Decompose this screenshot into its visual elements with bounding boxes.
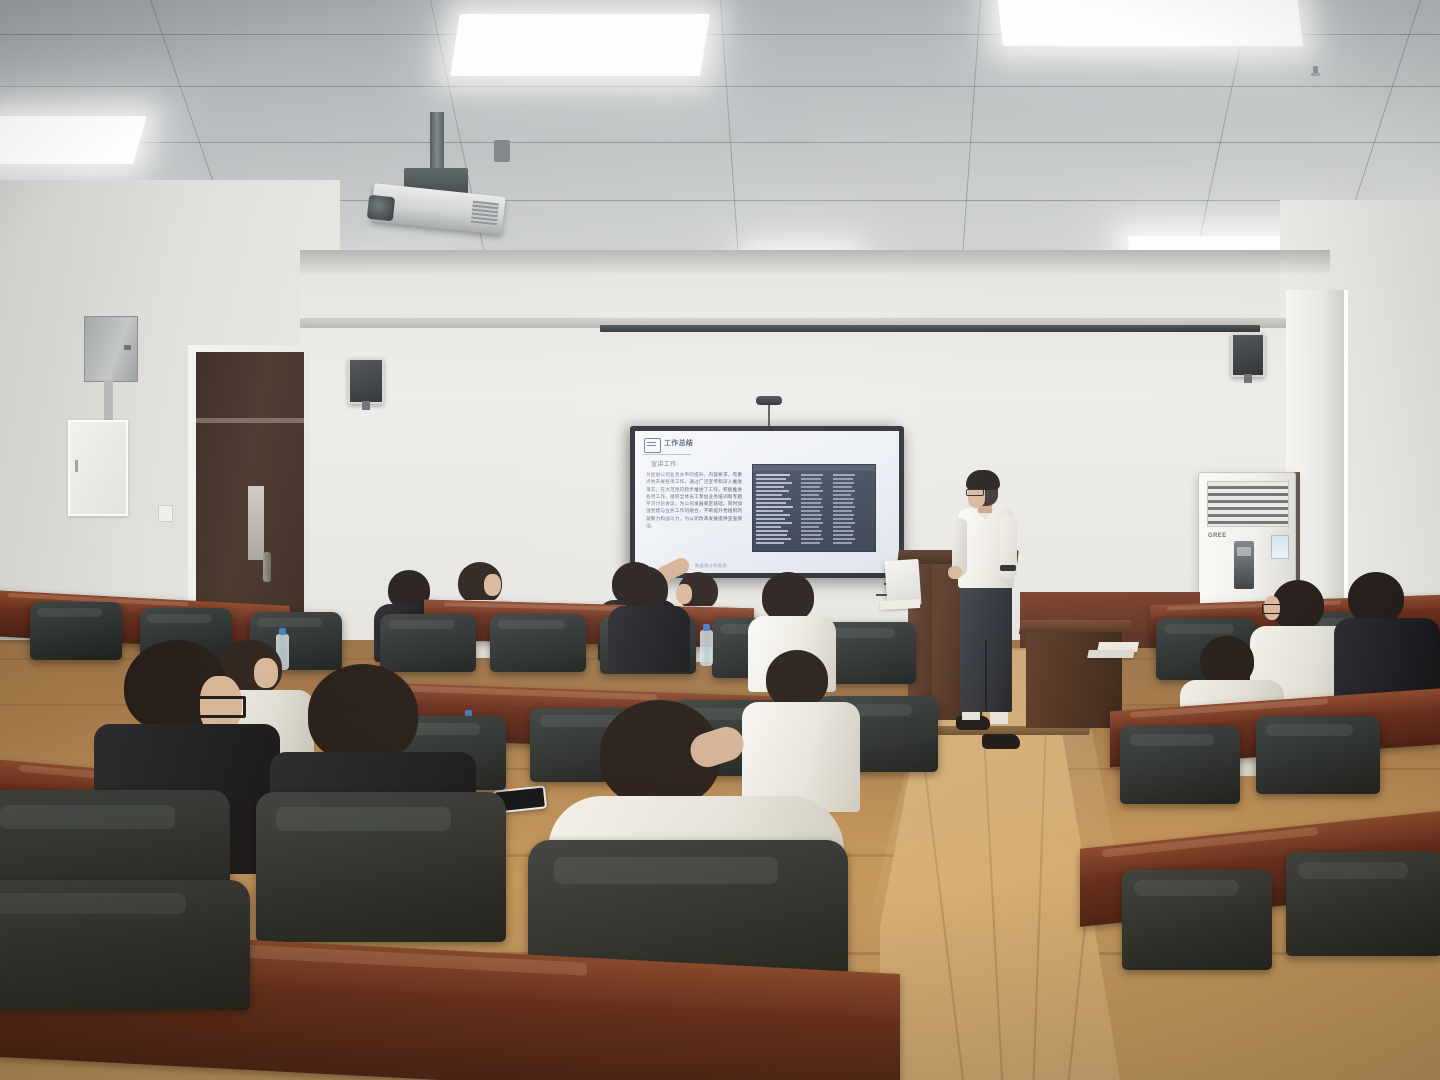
slide-title-rule	[643, 454, 691, 455]
presenter-hair	[966, 470, 1000, 490]
slide-data-table	[752, 464, 876, 552]
chair[interactable]	[0, 880, 250, 1010]
stacked-papers	[1087, 650, 1135, 658]
slide-title: 工作总结	[664, 438, 693, 448]
conference-camera-icon	[756, 396, 782, 405]
cable-rail	[600, 325, 1260, 332]
wall-speaker-right	[1231, 333, 1265, 377]
chair[interactable]	[1286, 852, 1440, 956]
wall-mounted-display[interactable]: 工作总结 宣讲工作 为促进公司业务水平的提升，内容要求，有重点地开展各项工作，通…	[630, 426, 904, 578]
chair[interactable]	[1120, 726, 1240, 804]
door-reflection	[196, 418, 304, 423]
wall-control-box	[84, 316, 138, 382]
wall-electrical-panel[interactable]	[68, 420, 128, 516]
chair[interactable]	[30, 602, 122, 660]
pillar-edge-highlight	[1344, 290, 1348, 630]
conduit-pipe	[104, 380, 113, 422]
led-panel-1	[450, 14, 710, 76]
slide-body-text: 为促进公司业务水平的提升，内容要求，有重点地开展各项工作，通过广泛宣传和深入推进…	[646, 471, 742, 529]
projector-lens-icon	[367, 195, 395, 222]
slide-section-label: 宣讲工作	[651, 459, 677, 468]
presenter-leg-seam	[985, 640, 987, 712]
ac-display-panel[interactable]	[1234, 541, 1254, 589]
projector-mount-pole	[430, 112, 444, 174]
eyeglasses-icon	[194, 696, 246, 718]
presenter-wristwatch	[1000, 565, 1016, 571]
chair[interactable]	[256, 792, 506, 942]
door-handle[interactable]	[263, 552, 271, 582]
chair[interactable]	[1256, 716, 1380, 794]
water-bottle	[700, 630, 713, 666]
slide-footer-caption: 数据统计明细表	[695, 563, 727, 569]
presenter-hand	[948, 566, 962, 579]
light-switch[interactable]	[158, 505, 173, 522]
ac-air-grille	[1207, 481, 1289, 527]
led-panel-3	[0, 116, 147, 164]
presenter-shoe	[982, 734, 1020, 749]
chair[interactable]	[380, 614, 476, 672]
ac-brand-label: GREE	[1208, 533, 1227, 539]
slide-logo-icon	[644, 438, 661, 453]
table-header-row	[753, 465, 875, 471]
wall-speaker-left	[348, 358, 384, 404]
sprinkler-head	[1313, 66, 1318, 75]
ceiling-sensor	[494, 140, 510, 162]
camera-stalk	[768, 404, 770, 426]
presenter-sock	[990, 712, 1008, 724]
led-panel-2	[997, 0, 1303, 46]
chair[interactable]	[490, 614, 586, 672]
display-screen: 工作总结 宣讲工作 为促进公司业务水平的提升，内容要求，有重点地开展各项工作，通…	[635, 431, 899, 573]
chair[interactable]	[1122, 870, 1272, 970]
ac-energy-badge	[1271, 535, 1289, 559]
wall-ceiling-shadow	[300, 250, 1330, 276]
door-vision-panel	[248, 486, 264, 560]
conference-room-photo: 工作总结 宣讲工作 为促进公司业务水平的提升，内容要求，有重点地开展各项工作，通…	[0, 0, 1440, 1080]
eyeglasses-icon	[966, 489, 984, 496]
